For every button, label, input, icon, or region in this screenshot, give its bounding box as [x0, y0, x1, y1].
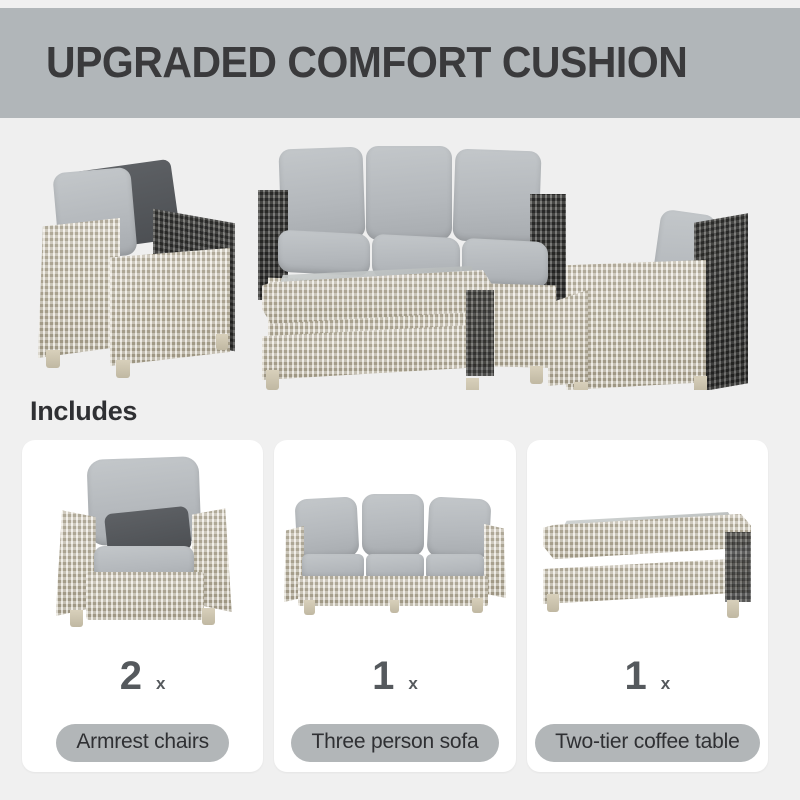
includes-card-list: 2 x Armrest chairs [22, 440, 768, 772]
card-table-leg-right [727, 600, 739, 618]
coffee-table-icon [527, 440, 768, 655]
item-label-badge: Three person sofa [291, 724, 498, 762]
card-sofa-leg-right [472, 598, 483, 613]
includes-card-armrest-chairs[interactable]: 2 x Armrest chairs [22, 440, 263, 772]
sofa-leg-right [530, 366, 543, 384]
armchair-right-leg-back [694, 376, 707, 390]
quantity-multiplier: x [408, 674, 417, 694]
page-title: UPGRADED COMFORT CUSHION [46, 38, 687, 88]
quantity-value: 2 [120, 656, 142, 696]
hero-scene [0, 118, 800, 390]
includes-card-three-person-sofa[interactable]: 1 x Three person sofa [274, 440, 515, 772]
quantity-value: 1 [624, 656, 646, 696]
includes-heading: Includes [30, 396, 137, 427]
card-armchair-front-base [86, 572, 204, 620]
armchair-leg-front-right [116, 360, 130, 378]
quantity-multiplier: x [156, 674, 165, 694]
header-banner: UPGRADED COMFORT CUSHION [0, 8, 800, 118]
quantity-row: 1 x [527, 656, 768, 696]
quantity-multiplier: x [661, 674, 670, 694]
card-table-lower-shelf [543, 558, 749, 604]
product-infographic: UPGRADED COMFORT CUSHION [0, 0, 800, 800]
coffee-table-leg-left [266, 370, 279, 390]
sofa-back-cushion-1 [278, 147, 365, 242]
label-pill-wrap: Two-tier coffee table [527, 724, 768, 762]
armchair-icon [22, 440, 263, 655]
card-sofa-leg-mid [390, 600, 399, 613]
sofa-back-cushion-2 [366, 146, 452, 240]
sofa-back-cushion-3 [452, 149, 541, 244]
armchair-leg-front-left [46, 350, 60, 368]
item-label-badge: Armrest chairs [56, 724, 229, 762]
armchair-front-base [110, 248, 230, 366]
coffee-table-leg-right [466, 378, 479, 390]
quantity-row: 2 x [22, 656, 263, 696]
card-sofa-back-cushion-2 [362, 494, 424, 556]
hero-armchair-right [548, 198, 764, 390]
armchair-leg-back-right [216, 334, 228, 350]
card-armchair-leg-right [202, 608, 215, 625]
hero-product-image [0, 118, 800, 390]
coffee-table-side-panel [466, 290, 494, 376]
label-pill-wrap: Three person sofa [274, 724, 515, 762]
label-pill-wrap: Armrest chairs [22, 724, 263, 762]
armchair-left-arm [38, 218, 120, 358]
hero-coffee-table [252, 266, 502, 390]
card-armchair-leg-left [70, 610, 83, 627]
hero-armchair-left [38, 148, 238, 390]
quantity-value: 1 [372, 656, 394, 696]
sofa-icon [274, 440, 515, 655]
coffee-table-lower-shelf [262, 324, 490, 380]
quantity-row: 1 x [274, 656, 515, 696]
armchair-right-base [548, 290, 588, 386]
card-table-side-panel [725, 532, 751, 602]
card-sofa-leg-left [304, 600, 315, 615]
card-table-leg-left [547, 594, 559, 612]
armchair-right-leg-front [574, 382, 588, 390]
includes-card-two-tier-coffee-table[interactable]: 1 x Two-tier coffee table [527, 440, 768, 772]
card-sofa-back-cushion-3 [426, 496, 491, 559]
item-label-badge: Two-tier coffee table [535, 724, 760, 762]
card-sofa-back-cushion-1 [294, 496, 359, 559]
